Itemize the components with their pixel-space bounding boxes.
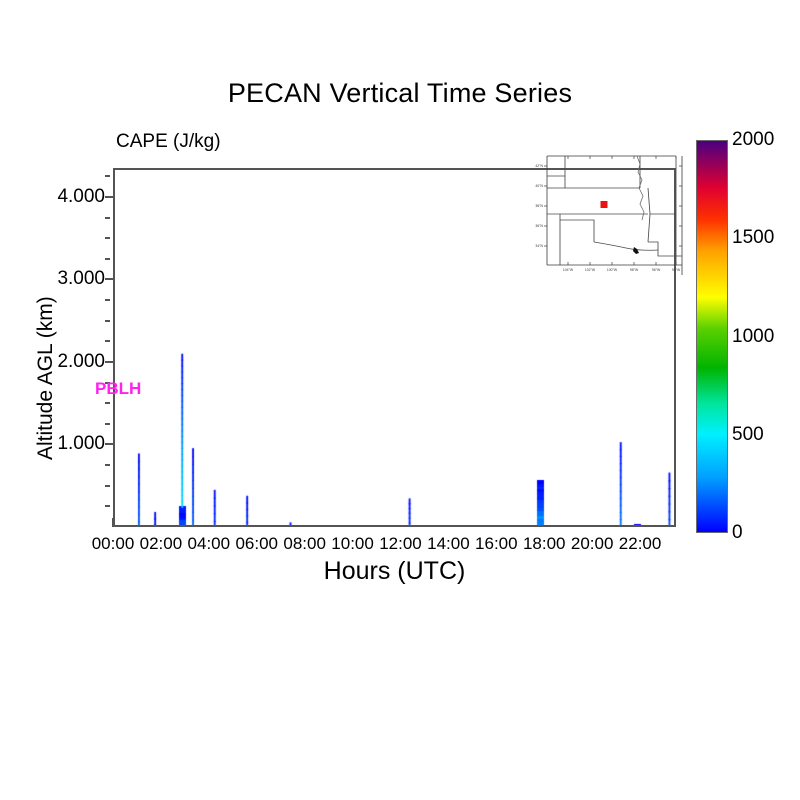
y-tick-mark [105, 320, 110, 322]
colorbar-tick-label: 1000 [732, 326, 774, 348]
y-tick-mark [105, 340, 110, 342]
y-tick-mark [105, 464, 110, 466]
inset-lat-label: 34°N [535, 244, 543, 248]
inset-lon-label: 104°W [563, 268, 574, 272]
y-tick-label: 2.000 [57, 351, 105, 373]
lake-feature [633, 247, 639, 254]
inset-lon-label: 94°W [672, 268, 681, 272]
y-tick-mark [105, 258, 110, 260]
colorbar-ticks: 0500100015002000 [732, 140, 796, 533]
inset-map-svg: 104°W102°W100°W98°W96°W94°W42°N40°N38°N3… [530, 150, 690, 280]
colorbar-tick-label: 500 [732, 424, 764, 446]
y-tick-label: 3.000 [57, 268, 105, 290]
inset-lat-label: 42°N [535, 164, 543, 168]
colorbar-tick-label: 1500 [732, 227, 774, 249]
y-tick-mark [105, 423, 110, 425]
x-tick-label: 04:00 [188, 534, 231, 554]
inset-lat-label: 40°N [535, 184, 543, 188]
y-tick-mark [105, 299, 110, 301]
x-axis-ticks: 00:0002:0004:0006:0008:0010:0012:0014:00… [113, 527, 676, 567]
inset-lon-label: 102°W [585, 268, 596, 272]
x-tick-label: 14:00 [427, 534, 470, 554]
x-tick-label: 18:00 [523, 534, 566, 554]
figure-root: PECAN Vertical Time Series CAPE (J/kg) A… [0, 0, 800, 800]
x-tick-label: 06:00 [235, 534, 278, 554]
inset-map-axes: 104°W102°W100°W98°W96°W94°W42°N40°N38°N3… [530, 150, 690, 280]
x-tick-label: 22:00 [619, 534, 662, 554]
site-marker [601, 201, 608, 208]
inset-lon-label: 98°W [630, 268, 639, 272]
colorbar-tick-label: 2000 [732, 129, 774, 151]
y-tick-mark [105, 175, 110, 177]
x-tick-label: 20:00 [571, 534, 614, 554]
y-tick-mark [105, 237, 110, 239]
state-borders [547, 156, 682, 265]
x-tick-label: 10:00 [331, 534, 374, 554]
y-tick-label: 1.000 [57, 433, 105, 455]
y-tick-mark [105, 485, 110, 487]
y-axis-ticks: 1.0002.0003.0004.000 [0, 168, 105, 527]
y-tick-label: 4.000 [57, 186, 105, 208]
inset-lon-label: 100°W [607, 268, 618, 272]
x-tick-label: 02:00 [140, 534, 183, 554]
x-tick-label: 08:00 [283, 534, 326, 554]
y-tick-mark [105, 505, 110, 507]
x-tick-label: 00:00 [92, 534, 135, 554]
inset-lon-label: 96°W [652, 268, 661, 272]
y-tick-mark [105, 217, 110, 219]
x-tick-label: 16:00 [475, 534, 518, 554]
figure-title: PECAN Vertical Time Series [0, 78, 800, 109]
inset-lat-label: 38°N [535, 204, 543, 208]
pblh-series-label: PBLH [95, 379, 141, 399]
colorbar [696, 140, 728, 533]
x-tick-label: 12:00 [379, 534, 422, 554]
inset-lat-label: 36°N [535, 224, 543, 228]
y-tick-mark [105, 402, 110, 404]
panel-variable-label: CAPE (J/kg) [116, 131, 221, 153]
colorbar-tick-label: 0 [732, 522, 743, 544]
